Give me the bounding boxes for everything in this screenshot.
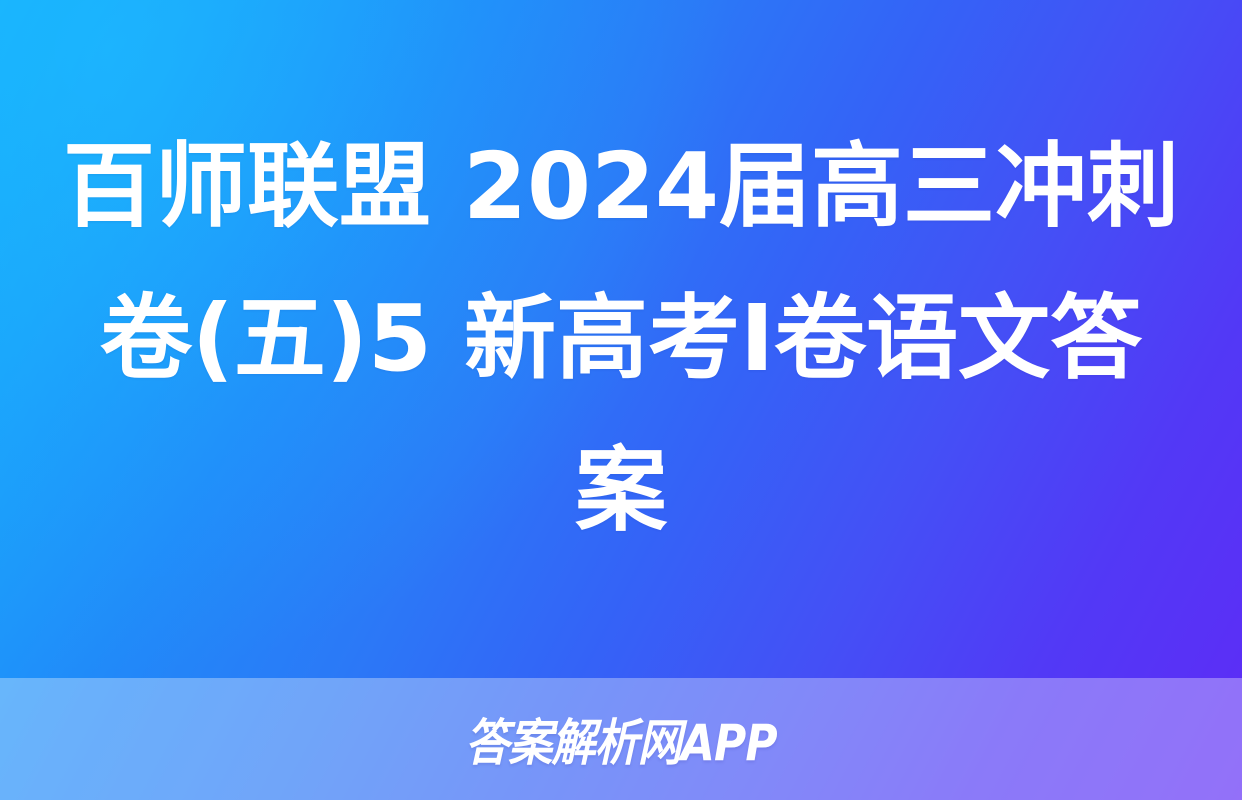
watermark-band: 答案解析网APP xyxy=(0,678,1242,800)
watermark-label: 答案解析网APP xyxy=(465,703,777,775)
title-block: 百师联盟 2024届高三冲刺卷(五)5 新高考Ⅰ卷语文答案 xyxy=(0,0,1242,678)
page-title: 百师联盟 2024届高三冲刺卷(五)5 新高考Ⅰ卷语文答案 xyxy=(62,111,1180,567)
poster-canvas: 百师联盟 2024届高三冲刺卷(五)5 新高考Ⅰ卷语文答案 答案解析网APP xyxy=(0,0,1242,800)
